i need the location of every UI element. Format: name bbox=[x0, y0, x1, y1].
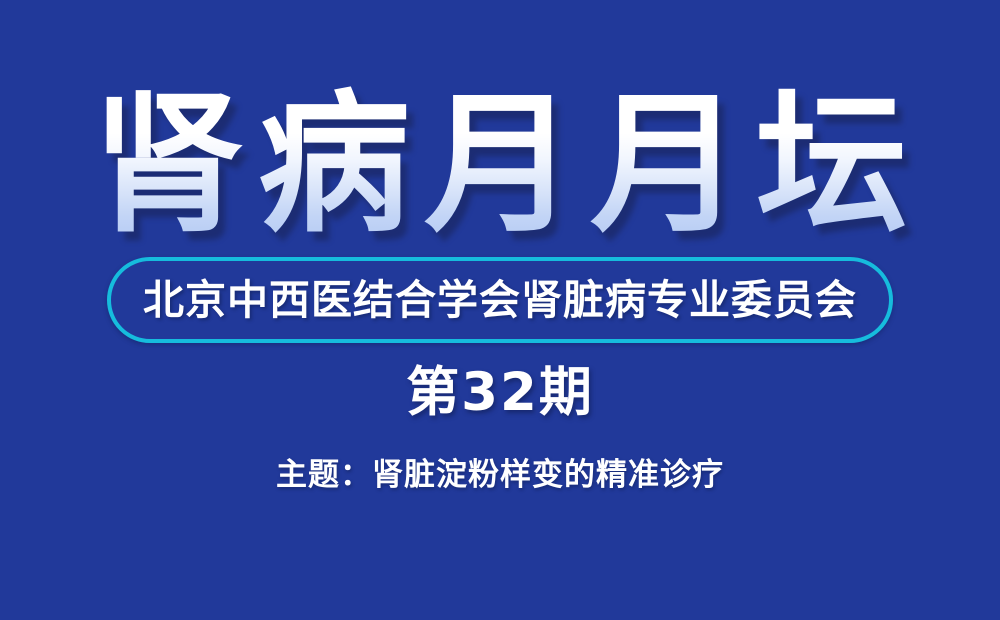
organization-pill: 北京中西医结合学会肾脏病专业委员会 bbox=[107, 257, 893, 343]
main-title: 肾病月月坛 肾病月月坛 bbox=[0, 86, 1000, 244]
main-title-text: 肾病月月坛 bbox=[0, 86, 1000, 244]
organization-label: 北京中西医结合学会肾脏病专业委员会 bbox=[143, 280, 857, 321]
theme-line: 主题：肾脏淀粉样变的精准诊疗 bbox=[0, 457, 1000, 494]
issue-number: 第32期 bbox=[0, 366, 1000, 419]
poster-canvas: 肾病月月坛 肾病月月坛 北京中西医结合学会肾脏病专业委员会 第32期 主题：肾脏… bbox=[0, 0, 1000, 620]
